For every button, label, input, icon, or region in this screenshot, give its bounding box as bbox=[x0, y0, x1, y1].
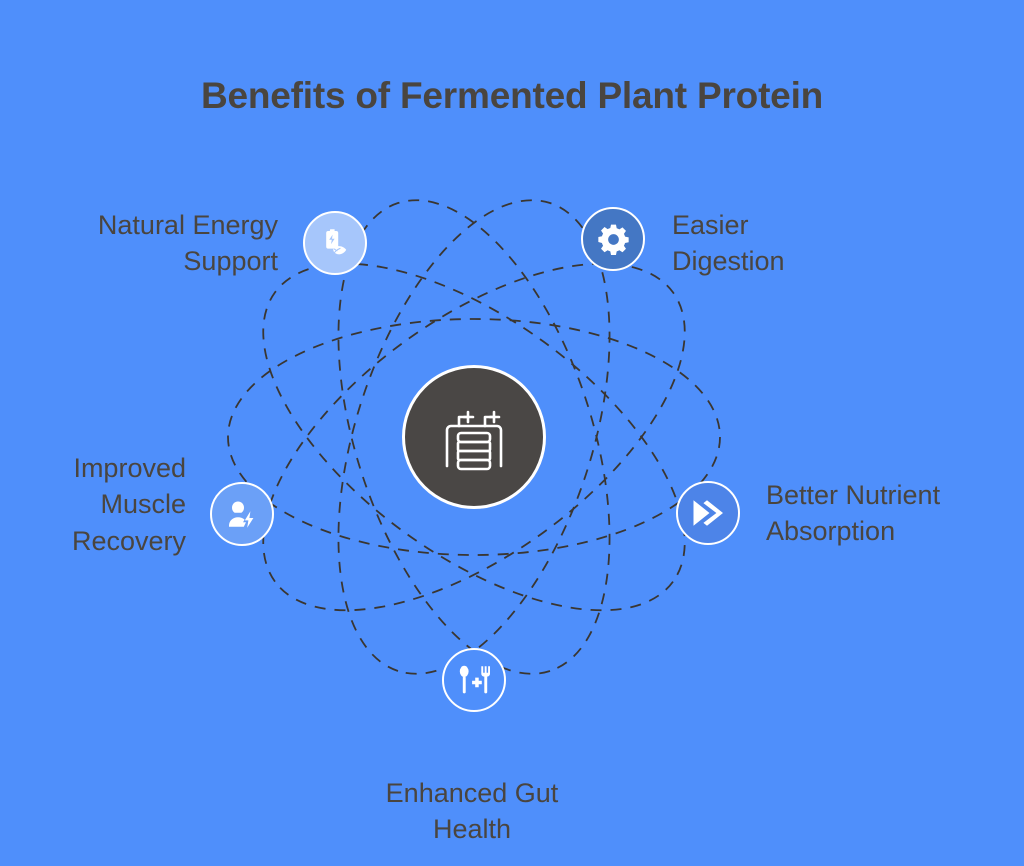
benefit-label-better-nutrient-absorption: Better Nutrient Absorption bbox=[766, 477, 1024, 550]
fast-forward-icon bbox=[690, 497, 726, 529]
gear-icon bbox=[597, 223, 630, 256]
spoon-fork-plus-icon bbox=[456, 663, 492, 697]
benefit-label-improved-muscle-recovery: Improved Muscle Recovery bbox=[0, 450, 186, 559]
benefit-node-enhanced-gut-health[interactable] bbox=[442, 648, 506, 712]
center-node-fermentation[interactable] bbox=[402, 365, 546, 509]
benefit-label-natural-energy-support: Natural Energy Support bbox=[0, 207, 278, 280]
person-bolt-icon bbox=[225, 498, 259, 530]
infographic-canvas: Benefits of Fermented Plant Protein bbox=[0, 0, 1024, 866]
benefit-label-easier-digestion: Easier Digestion bbox=[672, 207, 972, 280]
benefit-node-improved-muscle-recovery[interactable] bbox=[210, 482, 274, 546]
benefit-node-easier-digestion[interactable] bbox=[581, 207, 645, 271]
battery-leaf-icon bbox=[318, 226, 352, 260]
fermentation-tank-icon bbox=[439, 400, 509, 474]
benefit-label-enhanced-gut-health: Enhanced Gut Health bbox=[362, 775, 582, 848]
benefit-node-natural-energy-support[interactable] bbox=[303, 211, 367, 275]
page-title: Benefits of Fermented Plant Protein bbox=[0, 76, 1024, 117]
benefit-node-better-nutrient-absorption[interactable] bbox=[676, 481, 740, 545]
